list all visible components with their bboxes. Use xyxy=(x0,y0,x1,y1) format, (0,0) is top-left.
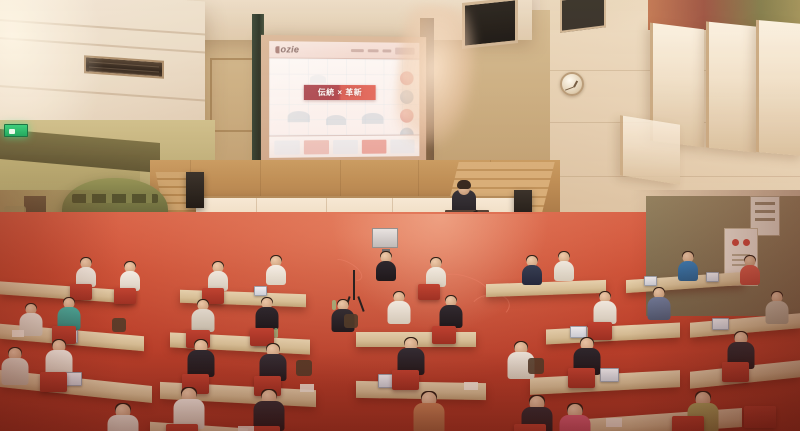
ceiling-vent-secondary-icon xyxy=(560,0,606,33)
laptop xyxy=(706,272,719,282)
handout xyxy=(12,330,24,337)
audience-chair xyxy=(418,284,440,300)
bag xyxy=(296,360,312,376)
confidence-monitor xyxy=(372,228,398,248)
motion-blur-foreground xyxy=(391,2,481,149)
wall-clock-icon xyxy=(560,72,584,96)
slide-card xyxy=(304,140,329,154)
stage-speaker-box-left xyxy=(186,172,204,208)
audience-person xyxy=(0,348,30,388)
audience-person xyxy=(558,404,592,431)
bag xyxy=(344,314,358,328)
audience-person xyxy=(738,256,762,286)
audience-person xyxy=(520,256,544,286)
audience-chair xyxy=(40,372,67,392)
acoustic-panel-3 xyxy=(756,20,800,156)
audience-chair xyxy=(432,326,456,344)
audience-person xyxy=(438,296,464,330)
audience-person xyxy=(190,300,216,334)
laptop xyxy=(600,368,619,382)
audience-person xyxy=(552,252,576,282)
water-bottle xyxy=(274,328,278,338)
audience-chair xyxy=(672,416,704,431)
audience-person xyxy=(386,292,412,326)
audience-person xyxy=(676,252,700,282)
acoustic-panel-4 xyxy=(620,115,680,185)
audience-chair xyxy=(744,406,776,428)
slide-header: ozie xyxy=(269,41,419,60)
handout xyxy=(238,426,254,431)
audience-chair xyxy=(166,424,198,431)
bag xyxy=(112,318,126,332)
audience-person xyxy=(264,256,288,286)
laptop xyxy=(644,276,657,286)
audience-chair xyxy=(114,288,136,304)
slide-card xyxy=(362,139,387,153)
laptop xyxy=(712,318,729,330)
audience-person xyxy=(254,298,280,332)
bag xyxy=(528,358,544,374)
audience-chair xyxy=(514,424,546,431)
handout xyxy=(300,384,314,392)
emergency-exit-sign-icon xyxy=(4,124,28,137)
laptop xyxy=(254,286,267,296)
slide-card xyxy=(333,139,358,153)
audience-person xyxy=(374,252,398,282)
audience-chair xyxy=(568,368,595,388)
audience-person xyxy=(252,390,286,431)
audience-person xyxy=(106,404,140,431)
audience-chair xyxy=(392,370,419,390)
audience-person xyxy=(412,392,446,431)
slide-card xyxy=(274,140,299,154)
water-bottle xyxy=(332,300,336,310)
slide-banner: 伝統 × 革新 xyxy=(304,85,376,100)
presenter-hair xyxy=(457,180,471,189)
handout xyxy=(606,418,622,427)
slide-logo: ozie xyxy=(275,44,299,54)
audience-person xyxy=(646,288,672,322)
acoustic-panel-2 xyxy=(706,21,756,152)
audience-person xyxy=(592,292,618,326)
audience-chair xyxy=(722,362,749,382)
conference-hall-photo: ozie 伝統 × 革新 xyxy=(0,0,800,431)
audience-person xyxy=(764,292,790,326)
handout xyxy=(464,382,478,390)
